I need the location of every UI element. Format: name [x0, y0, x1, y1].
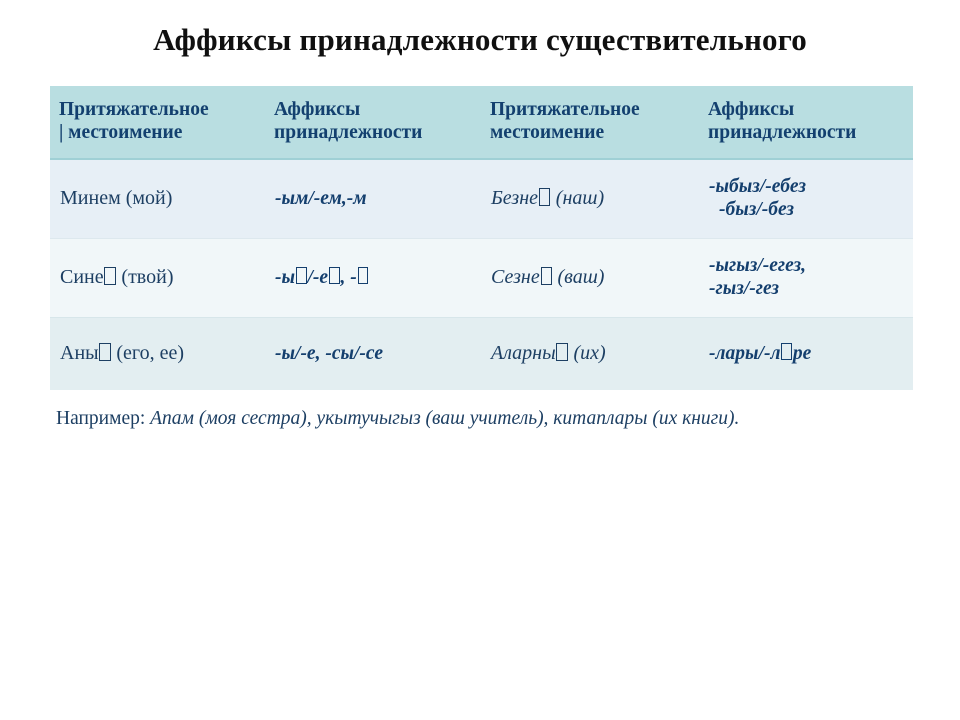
pronoun-text: Сезне (ваш): [491, 266, 604, 288]
missing-glyph-box: [556, 343, 567, 361]
column-header-line-1: Аффиксы: [274, 99, 479, 122]
cell-pronoun-3sg: Аны (его, ее): [50, 318, 265, 391]
example-label: Например:: [56, 408, 150, 429]
affix-part: -лары/-л: [709, 343, 780, 364]
table-row: Аны (его, ее) -ы/-е, -сы/-се Аларны (их)…: [50, 318, 913, 391]
slide-root: Аффиксы принадлежности существительного …: [0, 0, 960, 720]
affix-text: -ы/-е, -сы/-се: [275, 343, 383, 364]
column-header-line-1: Притяжательное: [59, 99, 263, 122]
cell-pronoun-3pl: Аларны (их): [481, 318, 699, 391]
affix-line-1: -ыгыз/-егез,: [709, 255, 806, 276]
cell-affix-3sg: -ы/-е, -сы/-се: [265, 318, 481, 391]
missing-glyph-box: [296, 267, 307, 285]
cell-affix-2pl: -ыгыз/-егез, -гыз/-гез: [699, 239, 913, 318]
pronoun-text: Минем (мой): [60, 187, 172, 209]
missing-glyph-box: [358, 267, 369, 285]
pronoun-text: Безне (наш): [491, 187, 604, 209]
pronoun-part: (наш): [551, 187, 604, 209]
affix-text: -ыбыз/-ебез -быз/-без: [709, 176, 911, 221]
column-header-possessive-pronoun-1: Притяжательное | местоимение: [50, 86, 265, 159]
pronoun-part: (твой): [116, 266, 173, 288]
pronoun-part: Сезне: [491, 266, 540, 288]
column-header-line-2: принадлежности: [708, 122, 911, 145]
table-header-row: Притяжательное | местоимение Аффиксы при…: [50, 86, 913, 159]
missing-glyph-box: [104, 267, 115, 285]
missing-glyph-box: [329, 267, 340, 285]
cell-pronoun-2sg: Сине (твой): [50, 239, 265, 318]
affix-part: -ы: [275, 267, 295, 288]
table-row: Сине (твой) -ы/-е, - Сезне (ваш) -ыгыз/-…: [50, 239, 913, 318]
cell-affix-3pl: -лары/-лре: [699, 318, 913, 391]
column-header-line-1: Аффиксы: [708, 99, 911, 122]
affix-part: -ым/-ем,-м: [275, 188, 367, 209]
pronoun-text: Сине (твой): [60, 266, 173, 288]
affix-part: -ы/-е, -сы/-се: [275, 343, 383, 364]
column-header-line-1: Притяжательное: [490, 99, 697, 122]
cell-pronoun-1pl: Безне (наш): [481, 159, 699, 239]
affix-line-2: -гыз/-гез: [709, 278, 911, 301]
cell-affix-1sg: -ым/-ем,-м: [265, 159, 481, 239]
missing-glyph-box: [99, 343, 110, 361]
pronoun-part: Аларны: [491, 342, 556, 364]
affix-text: -ы/-е, -: [275, 267, 369, 288]
missing-glyph-box: [539, 188, 550, 206]
pronoun-part: (его, ее): [111, 342, 184, 364]
affix-text: -ыгыз/-егез, -гыз/-гез: [709, 255, 911, 300]
affix-text: -лары/-лре: [709, 343, 811, 364]
missing-glyph-box: [541, 267, 552, 285]
pronoun-part: (их): [568, 342, 605, 364]
pronoun-text: Аларны (их): [491, 342, 606, 364]
pronoun-part: Сине: [60, 266, 104, 288]
column-header-line-2: местоимение: [490, 122, 697, 145]
pronoun-part: (ваш): [552, 266, 604, 288]
cell-pronoun-2pl: Сезне (ваш): [481, 239, 699, 318]
column-header-affixes-1: Аффиксы принадлежности: [265, 86, 481, 159]
table-row: Минем (мой) -ым/-ем,-м Безне (наш) -ыбыз…: [50, 159, 913, 239]
affix-line-1: -ыбыз/-ебез: [709, 176, 806, 197]
affix-part: , -: [340, 267, 356, 288]
pronoun-part: Безне: [491, 187, 538, 209]
pronoun-text: Аны (его, ее): [60, 342, 184, 364]
affix-line-2: -быз/-без: [709, 199, 911, 222]
pronoun-part: Аны: [60, 342, 99, 364]
example-note: Например: Апам (моя сестра), укытучыгыз …: [56, 408, 936, 430]
affix-text: -ым/-ем,-м: [275, 188, 367, 209]
missing-glyph-box: [781, 343, 792, 361]
column-header-line-2: | местоимение: [59, 122, 263, 145]
example-text: Апам (моя сестра), укытучыгыз (ваш учите…: [150, 408, 739, 429]
column-header-possessive-pronoun-2: Притяжательное местоимение: [481, 86, 699, 159]
column-header-affixes-2: Аффиксы принадлежности: [699, 86, 913, 159]
cell-pronoun-1sg: Минем (мой): [50, 159, 265, 239]
affix-part: ре: [793, 343, 811, 364]
cell-affix-1pl: -ыбыз/-ебез -быз/-без: [699, 159, 913, 239]
cell-affix-2sg: -ы/-е, -: [265, 239, 481, 318]
page-title: Аффиксы принадлежности существительного: [0, 22, 960, 58]
possessive-affix-table: Притяжательное | местоимение Аффиксы при…: [50, 86, 913, 390]
pronoun-part: Минем (мой): [60, 187, 172, 209]
affix-part: /-е: [307, 267, 328, 288]
column-header-line-2: принадлежности: [274, 122, 479, 145]
